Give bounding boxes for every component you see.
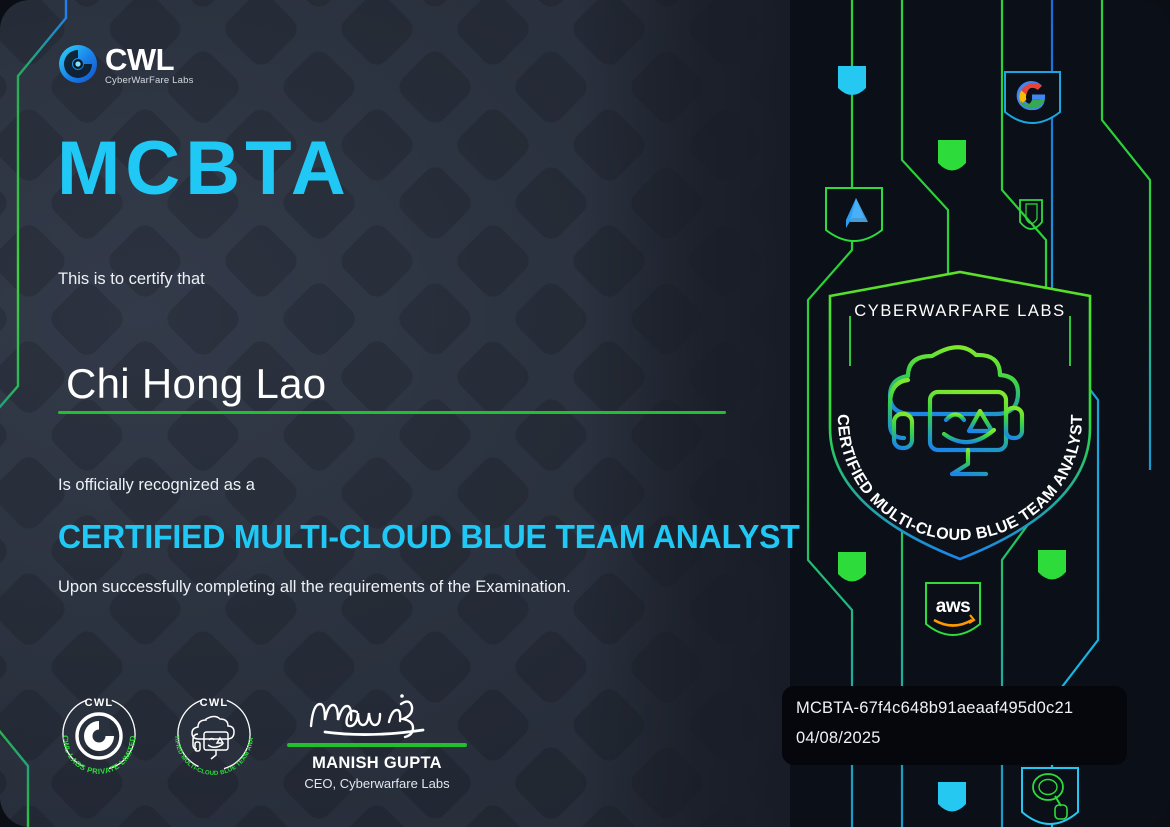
signature-block: MANISH GUPTA CEO, Cyberwarfare Labs	[287, 686, 467, 791]
logo-wordmark: CWL	[105, 44, 194, 75]
shield-plain-green-mid	[938, 140, 966, 171]
certify-label: This is to certify that	[58, 270, 205, 289]
shield-azure	[826, 188, 882, 241]
svg-text:aws: aws	[936, 596, 970, 617]
certificate-issue-date: 04/08/2025	[796, 729, 1113, 748]
certificate-id-box: MCBTA-67f4c648b91aeaaf495d0c21 04/08/202…	[782, 686, 1127, 765]
recipient-name: Chi Hong Lao	[66, 363, 326, 405]
certification-badge: CYBERWARFARE LABS CERTIFIED MULTI-CLOUD …	[820, 268, 1100, 563]
seal-arc-text: CWL LABS PRIVATE LIMITED	[61, 735, 137, 776]
cwl-swirl-icon	[58, 44, 98, 84]
recognized-label: Is officially recognized as a	[58, 476, 255, 495]
cwl-logo: CWL CyberWarFare Labs	[58, 42, 194, 86]
seal-top-text: CWL	[200, 697, 229, 709]
cloud-monitor-headphones-icon	[192, 717, 234, 760]
completion-note: Upon successfully completing all the req…	[58, 578, 571, 597]
signature-underline	[287, 743, 467, 747]
certificate-card: aws	[0, 0, 1170, 827]
signer-role: CEO, Cyberwarfare Labs	[287, 776, 467, 791]
shield-magnifier	[1022, 768, 1078, 824]
badge-org-text: CYBERWARFARE LABS	[854, 302, 1066, 320]
shield-plain-cyan-top	[838, 66, 866, 95]
seal-certification: CWL CERTIFIED MULTI-CLOUD BLUE TEAM ANAL…	[170, 690, 258, 778]
shield-plain-cyan-bottom	[938, 782, 966, 812]
shield-aws: aws	[926, 583, 980, 635]
seal-top-text: CWL	[85, 697, 114, 709]
certification-code: MCBTA	[57, 131, 351, 207]
cwl-swirl-icon	[77, 714, 121, 758]
handwritten-signature-icon	[297, 686, 457, 741]
seal-company: CWL CWL LABS PRIVATE LIMITED	[55, 690, 143, 778]
recipient-name-underline	[58, 411, 726, 414]
signer-name: MANISH GUPTA	[287, 754, 467, 773]
shield-google	[1005, 72, 1060, 123]
certification-title: CERTIFIED MULTI-CLOUD BLUE TEAM ANALYST	[58, 519, 800, 555]
logo-tagline: CyberWarFare Labs	[105, 76, 194, 86]
certificate-id: MCBTA-67f4c648b91aeaaf495d0c21	[796, 699, 1113, 719]
